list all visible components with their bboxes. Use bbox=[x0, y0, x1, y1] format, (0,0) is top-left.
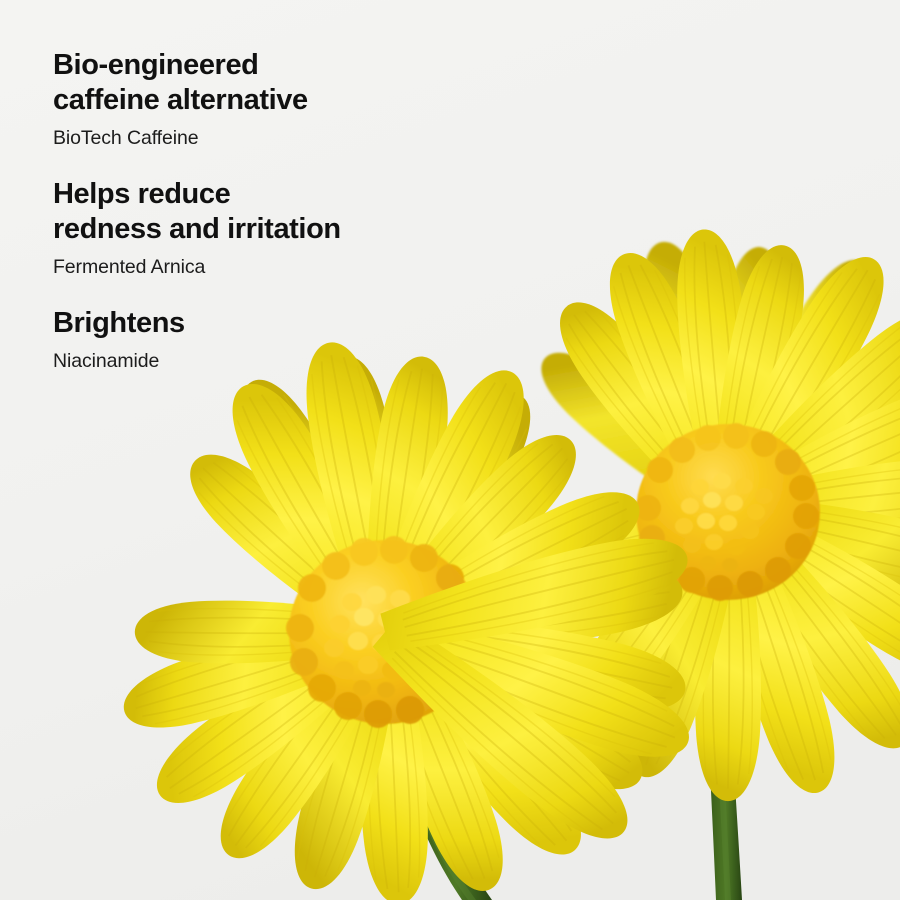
benefits-list: Bio-engineered caffeine alternative BioT… bbox=[53, 48, 473, 374]
benefit-title-1: Bio-engineered caffeine alternative bbox=[53, 48, 473, 119]
benefit-item-3: Brightens Niacinamide bbox=[53, 306, 473, 374]
benefit-title-2: Helps reduce redness and irritation bbox=[53, 177, 473, 248]
benefit-item-1: Bio-engineered caffeine alternative BioT… bbox=[53, 48, 473, 151]
product-benefit-image: Bio-engineered caffeine alternative BioT… bbox=[0, 0, 900, 900]
benefit-ingredient-1: BioTech Caffeine bbox=[53, 126, 473, 151]
benefit-title-3: Brightens bbox=[53, 306, 473, 341]
benefit-ingredient-3: Niacinamide bbox=[53, 349, 473, 374]
benefit-ingredient-2: Fermented Arnica bbox=[53, 255, 473, 280]
benefit-item-2: Helps reduce redness and irritation Ferm… bbox=[53, 177, 473, 280]
